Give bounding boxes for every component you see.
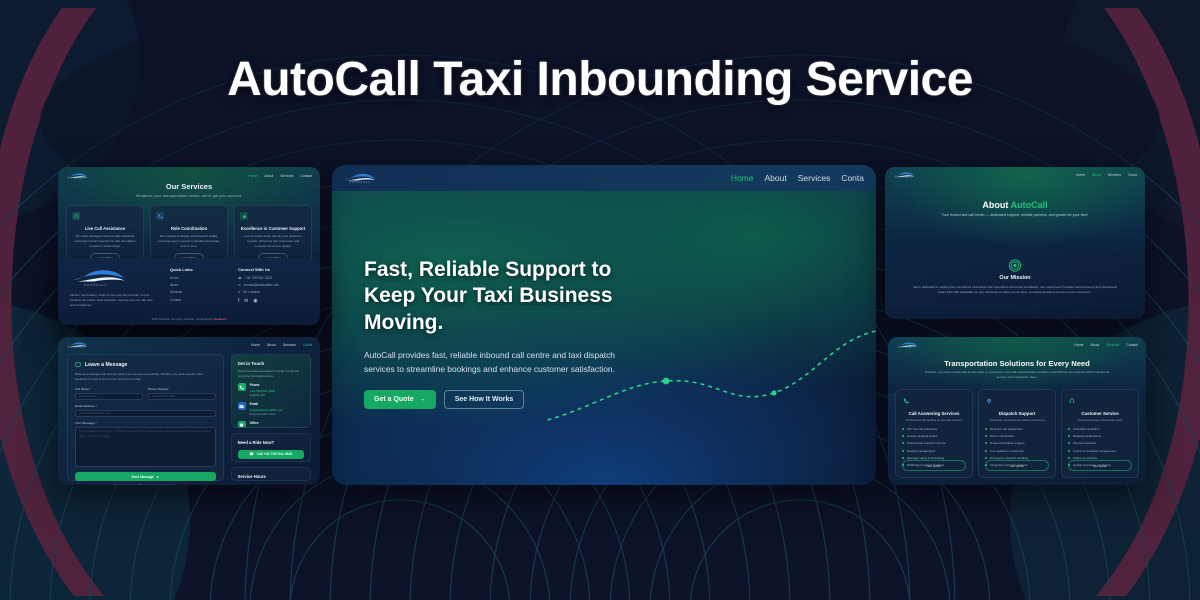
services-navbar: AUTOCALL Home About Services Contact (58, 172, 320, 181)
contact-info-value: contact@autocallllm.com (250, 408, 283, 412)
star-icon (240, 212, 248, 220)
hero-nav-contact[interactable]: Conta (841, 173, 864, 183)
solution-card-subtitle: Exceptional support that builds loyalty (1068, 419, 1132, 422)
headset-icon (72, 212, 80, 220)
contact-mockup-panel[interactable]: AUTOCALL Home About Services Conta Leave… (58, 337, 320, 485)
contact-logo[interactable]: AUTOCALL (66, 341, 88, 350)
solution-card[interactable]: Dispatch Support Dispatcher coordination… (978, 389, 1056, 478)
contact-nav-links[interactable]: Home About Services Conta (251, 343, 312, 347)
services-nav-about[interactable]: About (264, 174, 273, 178)
service-card-title: Ride Coordination (156, 226, 222, 231)
contact-side-column: Get in Touch Need immediate assistance? … (231, 354, 311, 481)
phone-number-label: Phone Number (148, 387, 216, 391)
hero-headline-line1: Fast, Reliable Support to (364, 257, 664, 283)
solutions-logo-wordmark: AUTOCALL (898, 348, 915, 350)
about-title-prefix: About (982, 200, 1010, 210)
contact-info-row[interactable]: Phone +44 7397441 2628 Available 24/7 (238, 383, 304, 397)
footer-link-contact[interactable]: Contact (170, 298, 226, 302)
services-nav-links[interactable]: Home About Services Contact (248, 174, 312, 178)
solutions-mockup-panel[interactable]: AUTOCALL Home About Services Contact Tra… (888, 337, 1146, 485)
email-label: Email Address * (75, 404, 216, 408)
service-card-desc: Our team manages inbound calls efficient… (72, 234, 138, 248)
contact-nav-home[interactable]: Home (251, 343, 260, 347)
solution-card-title: Call Answering Services (902, 411, 966, 416)
solution-feature-label: Booking management (907, 449, 935, 453)
bullet-icon (1068, 442, 1070, 444)
footer-link-services[interactable]: Services (170, 290, 226, 294)
solution-get-quote-button[interactable]: Get Quote (985, 460, 1049, 471)
bullet-icon (902, 435, 904, 437)
solution-card-title: Customer Service (1068, 411, 1132, 416)
solution-feature: Professional customer service (902, 441, 966, 445)
leave-a-message-form[interactable]: Leave a Message Write us a message and w… (67, 354, 224, 481)
contact-info-sub: Available 24/7 (250, 394, 275, 397)
message-placeholder: Tell us how we can help you — whether yo… (76, 428, 215, 441)
solutions-nav-links[interactable]: Home About Services Contact (1074, 343, 1138, 347)
contact-info-row[interactable]: Email contact@autocallllm.com Response w… (238, 402, 304, 416)
solution-feature: Real-time job assignment (985, 427, 1049, 431)
footer-phone-row[interactable]: ☎ +44 7397441 2628 (238, 276, 308, 280)
service-card-title: Live Call Assistance (72, 226, 138, 231)
hero-navbar: AUTOCALL Home About Services Conta (332, 165, 876, 191)
services-nav-services[interactable]: Services (280, 174, 293, 178)
about-nav-about[interactable]: About (1092, 173, 1101, 177)
mail-icon: ✉ (238, 283, 241, 287)
footer-copyright: 2025 AutoCall. All rights reserved. Deve… (58, 317, 320, 321)
call-now-button[interactable]: ☎ Call +44 7397441 2628 (238, 450, 304, 459)
solution-feature: Customer feedback management (1068, 449, 1132, 453)
hero-subtext: AutoCall provides fast, reliable inbound… (364, 349, 632, 377)
solutions-subtitle: Whether you need a quick ride across tow… (922, 370, 1112, 381)
solution-feature-label: Booking modifications (1073, 434, 1101, 438)
contact-info-title: Email (250, 402, 283, 406)
contact-info-value: UK Location (250, 427, 268, 428)
bullet-icon (985, 457, 987, 459)
contact-info-row: Office UK Location Serving the area (238, 421, 304, 427)
solution-feature: Live updates to customers (985, 449, 1049, 453)
solution-card[interactable]: Call Answering Services Professional cal… (895, 389, 973, 478)
contact-info-text: Phone +44 7397441 2628 Available 24/7 (250, 383, 275, 397)
send-message-button[interactable]: Send Message ➤ (75, 472, 216, 481)
about-nav-links[interactable]: Home About Services Conta (1076, 173, 1137, 177)
footer-connect-heading: Connect With Us (238, 267, 308, 272)
about-nav-contact[interactable]: Conta (1128, 173, 1137, 177)
solution-feature-label: Live updates to customers (990, 449, 1024, 453)
services-logo-wordmark: AUTOCALL (68, 179, 85, 181)
solution-feature-label: Real-time job assignment (990, 427, 1023, 431)
phone-icon: ☎ (249, 452, 253, 456)
solution-feature: Driver coordination (985, 434, 1049, 438)
get-in-touch-desc: Need immediate assistance? Contact us di… (238, 369, 304, 378)
solutions-nav-contact[interactable]: Contact (1126, 343, 1138, 347)
solution-feature-label: Custom greeting scripts (907, 434, 937, 438)
hero-headline-line2: Keep Your Taxi Business (364, 283, 664, 309)
email-group: Email Address * your.email@example.com (75, 404, 216, 417)
footer-logo-wordmark: AUTOCALL (84, 284, 108, 287)
footer-email-row[interactable]: ✉ contact@autocallllm.com (238, 283, 308, 287)
message-label: Your Message * (75, 421, 216, 425)
mail-icon (238, 402, 246, 410)
service-card-desc: We manage bookings and dispatch swiftly,… (156, 234, 222, 248)
bullet-icon (985, 450, 987, 452)
hero-nav-services[interactable]: Services (798, 173, 831, 183)
form-heading-row: Leave a Message (75, 362, 216, 368)
footer-location-row: ● UK Location (238, 290, 308, 294)
solution-feature: Booking modifications (1068, 434, 1132, 438)
contact-info-text: Email contact@autocallllm.com Response w… (250, 402, 283, 416)
hero-headline: Fast, Reliable Support to Keep Your Taxi… (364, 257, 664, 336)
phone-call-icon (902, 397, 910, 405)
solution-card-subtitle: Dispatcher coordination for efficient op… (985, 419, 1049, 422)
footer-logo[interactable]: AUTOCALL (70, 267, 158, 287)
footer-developer[interactable]: Realtech (214, 317, 226, 321)
solutions-nav-services[interactable]: Services (1106, 343, 1119, 347)
form-desc: Write us a message and we'll get back to… (75, 372, 216, 381)
support-icon (1068, 397, 1076, 405)
hero-logo-wordmark: AUTOCALL (349, 182, 371, 185)
form-note: We typically respond within 1 hour durin… (75, 484, 216, 485)
about-title-accent: AutoCall (1011, 200, 1048, 210)
service-card-title: Excellence in Customer Support (240, 226, 306, 231)
bullet-icon (1068, 450, 1070, 452)
about-navbar: AUTOCALL Home About Services Conta (885, 171, 1145, 180)
message-group: Your Message * Tell us how we can help y… (75, 421, 216, 467)
map-pin-icon (238, 421, 246, 427)
contact-info-title: Phone (250, 383, 275, 387)
need-a-ride-heading: Need a Ride Now? (238, 440, 304, 445)
footer-link-home[interactable]: Home (170, 276, 226, 280)
hero-copy-block: Fast, Reliable Support to Keep Your Taxi… (364, 257, 664, 409)
solution-feature: Booking management (902, 449, 966, 453)
need-a-ride-card: Need a Ride Now? ☎ Call +44 7397441 2628 (231, 433, 311, 462)
email-input[interactable]: your.email@example.com (75, 410, 216, 417)
solution-feature-label: Payment inquiries (1073, 441, 1096, 445)
solution-feature: Payment inquiries (1068, 441, 1132, 445)
hero-mockup-panel[interactable]: AUTOCALL Home About Services Conta Fast,… (332, 165, 876, 485)
phone-icon: ☎ (238, 276, 242, 280)
mission-heading: Our Mission (885, 275, 1145, 281)
footer-copyright-text: 2025 AutoCall. All rights reserved. Deve… (152, 317, 214, 321)
about-subtitle: Your trusted taxi call center — dedicate… (885, 213, 1145, 217)
see-how-it-works-button[interactable]: See How It Works (444, 390, 525, 409)
contact-info-sub: Response within 1 hour (250, 413, 283, 416)
full-name-placeholder: Your full name (76, 394, 142, 399)
service-card-desc: Let our expert team handle your customer… (240, 234, 306, 248)
target-icon (1009, 259, 1022, 272)
solutions-title: Transportation Solutions for Every Need (888, 359, 1146, 368)
about-title: About AutoCall (885, 200, 1145, 210)
footer-social-row[interactable]: f in ◉ (238, 298, 308, 304)
contact-nav-about[interactable]: About (267, 343, 276, 347)
send-icon: ➤ (157, 475, 160, 479)
services-title: Our Services (58, 182, 320, 191)
footer-columns: AUTOCALL Modern taxi booking made for th… (58, 258, 320, 325)
get-a-quote-button[interactable]: Get a Quote → (364, 390, 436, 409)
bullet-icon (902, 428, 904, 430)
form-row-name-phone: Full Name * Your full name Phone Number … (75, 387, 216, 400)
service-hours-card: Service Hours Call Centre 24/7 Phone Sup… (231, 467, 311, 481)
page-title: AutoCall Taxi Inbounding Service (0, 52, 1200, 107)
about-logo[interactable]: AUTOCALL (893, 171, 915, 180)
bullet-icon (985, 428, 987, 430)
about-nav-home[interactable]: Home (1076, 173, 1085, 177)
solution-feature-label: Route optimisation support (990, 441, 1024, 445)
contact-navbar: AUTOCALL Home About Services Conta (58, 341, 320, 350)
contact-body: Leave a Message Write us a message and w… (67, 354, 311, 481)
hero-nav-about[interactable]: About (765, 173, 787, 183)
hero-headline-line3: Moving. (364, 310, 664, 336)
footer-location: UK Location (243, 290, 260, 294)
message-textarea[interactable]: Tell us how we can help you — whether yo… (75, 427, 216, 467)
linkedin-icon[interactable]: in (244, 298, 248, 304)
solution-feature: Complaint resolution (1068, 427, 1132, 431)
phone-icon (238, 383, 246, 391)
bullet-icon (902, 457, 904, 459)
solution-get-quote-button[interactable]: Get Quote (902, 460, 966, 471)
message-square-icon (75, 362, 81, 368)
full-name-label: Full Name * (75, 387, 143, 391)
solution-feature: Custom greeting scripts (902, 434, 966, 438)
services-nav-home[interactable]: Home (248, 174, 257, 178)
full-name-group: Full Name * Your full name (75, 387, 143, 400)
bullet-icon (1068, 435, 1070, 437)
solution-feature-label: Professional customer service (907, 441, 946, 445)
get-in-touch-heading: Get in Touch (238, 361, 304, 366)
bullet-icon (902, 442, 904, 444)
solution-feature-label: Complaint resolution (1073, 427, 1099, 431)
footer-phone: +44 7397441 2628 (245, 276, 272, 280)
solution-get-quote-button[interactable]: Get Quote (1068, 460, 1132, 471)
call-now-label: Call +44 7397441 2628 (257, 452, 293, 456)
route-icon (156, 212, 164, 220)
get-a-quote-label: Get a Quote (374, 396, 414, 403)
footer-brand-desc: Modern taxi booking made for the everyda… (70, 293, 158, 308)
email-placeholder: your.email@example.com (76, 411, 215, 416)
services-subtitle: Whatever your transportation needs, we'v… (58, 193, 320, 198)
services-logo[interactable]: AUTOCALL (66, 172, 88, 181)
about-nav-services[interactable]: Services (1108, 173, 1121, 177)
solutions-logo[interactable]: AUTOCALL (896, 341, 918, 350)
arrow-right-icon: → (419, 396, 426, 403)
solution-card-subtitle: Professional call handling for your taxi… (902, 419, 966, 422)
bullet-icon (1068, 428, 1070, 430)
hero-nav-home[interactable]: Home (731, 173, 754, 183)
map-pin-icon: ● (238, 290, 240, 294)
footer-link-about[interactable]: About (170, 283, 226, 287)
form-heading: Leave a Message (85, 362, 127, 368)
dispatch-icon (985, 397, 993, 405)
instagram-icon[interactable]: ◉ (253, 298, 257, 304)
bullet-icon (985, 435, 987, 437)
footer-quick-links-heading: Quick Links (170, 267, 226, 272)
contact-info-value: +44 7397441 2628 (250, 389, 275, 393)
about-mockup-panel[interactable]: AUTOCALL Home About Services Conta About… (885, 167, 1145, 319)
bullet-icon (985, 442, 987, 444)
about-logo-wordmark: AUTOCALL (895, 178, 912, 180)
solutions-nav-home[interactable]: Home (1074, 343, 1083, 347)
solution-card-title: Dispatch Support (985, 411, 1049, 416)
footer-quick-links-column: Quick Links Home About Services Contact (170, 267, 226, 316)
services-nav-contact[interactable]: Contact (300, 174, 312, 178)
get-in-touch-card: Get in Touch Need immediate assistance? … (231, 354, 311, 428)
send-message-label: Send Message (131, 475, 153, 479)
contact-info-title: Office (250, 421, 268, 425)
solution-card[interactable]: Customer Service Exceptional support tha… (1061, 389, 1139, 478)
solution-feature-label: Driver coordination (990, 434, 1014, 438)
solution-feature: 24/7 live call answering (902, 427, 966, 431)
contact-nav-services[interactable]: Services (283, 343, 296, 347)
phone-number-placeholder: +44 0000 000 0000 (149, 394, 215, 399)
contact-nav-contact[interactable]: Conta (303, 343, 312, 347)
solutions-nav-about[interactable]: About (1090, 343, 1099, 347)
footer-brand-column: AUTOCALL Modern taxi booking made for th… (70, 267, 158, 316)
footer-mockup-panel[interactable]: AUTOCALL Modern taxi booking made for th… (58, 258, 320, 325)
hero-button-group: Get a Quote → See How It Works (364, 390, 664, 409)
facebook-icon[interactable]: f (238, 298, 239, 304)
footer-connect-column: Connect With Us ☎ +44 7397441 2628 ✉ con… (238, 267, 308, 316)
footer-email: contact@autocallllm.com (244, 283, 279, 287)
solution-feature-label: Customer feedback management (1073, 449, 1116, 453)
solution-feature-label: 24/7 live call answering (907, 427, 937, 431)
phone-number-input[interactable]: +44 0000 000 0000 (148, 393, 216, 400)
contact-logo-wordmark: AUTOCALL (68, 348, 85, 350)
solutions-navbar: AUTOCALL Home About Services Contact (888, 341, 1146, 350)
service-hours-heading: Service Hours (238, 474, 304, 479)
phone-number-group: Phone Number +44 0000 000 0000 (148, 387, 216, 400)
bullet-icon (1068, 457, 1070, 459)
car-silhouette-icon (70, 267, 128, 284)
poster-stage: AutoCall Taxi Inbounding Service AUTOCAL… (0, 0, 1200, 600)
hero-nav-links[interactable]: Home About Services Conta (731, 173, 864, 183)
bullet-icon (902, 450, 904, 452)
hero-logo[interactable]: AUTOCALL (344, 172, 376, 185)
contact-info-text: Office UK Location Serving the area (250, 421, 268, 427)
mission-text: We're dedicated to helping taxi companie… (911, 285, 1119, 296)
full-name-input[interactable]: Your full name (75, 393, 143, 400)
solutions-card-grid: Call Answering Services Professional cal… (895, 389, 1139, 478)
solution-feature: Route optimisation support (985, 441, 1049, 445)
